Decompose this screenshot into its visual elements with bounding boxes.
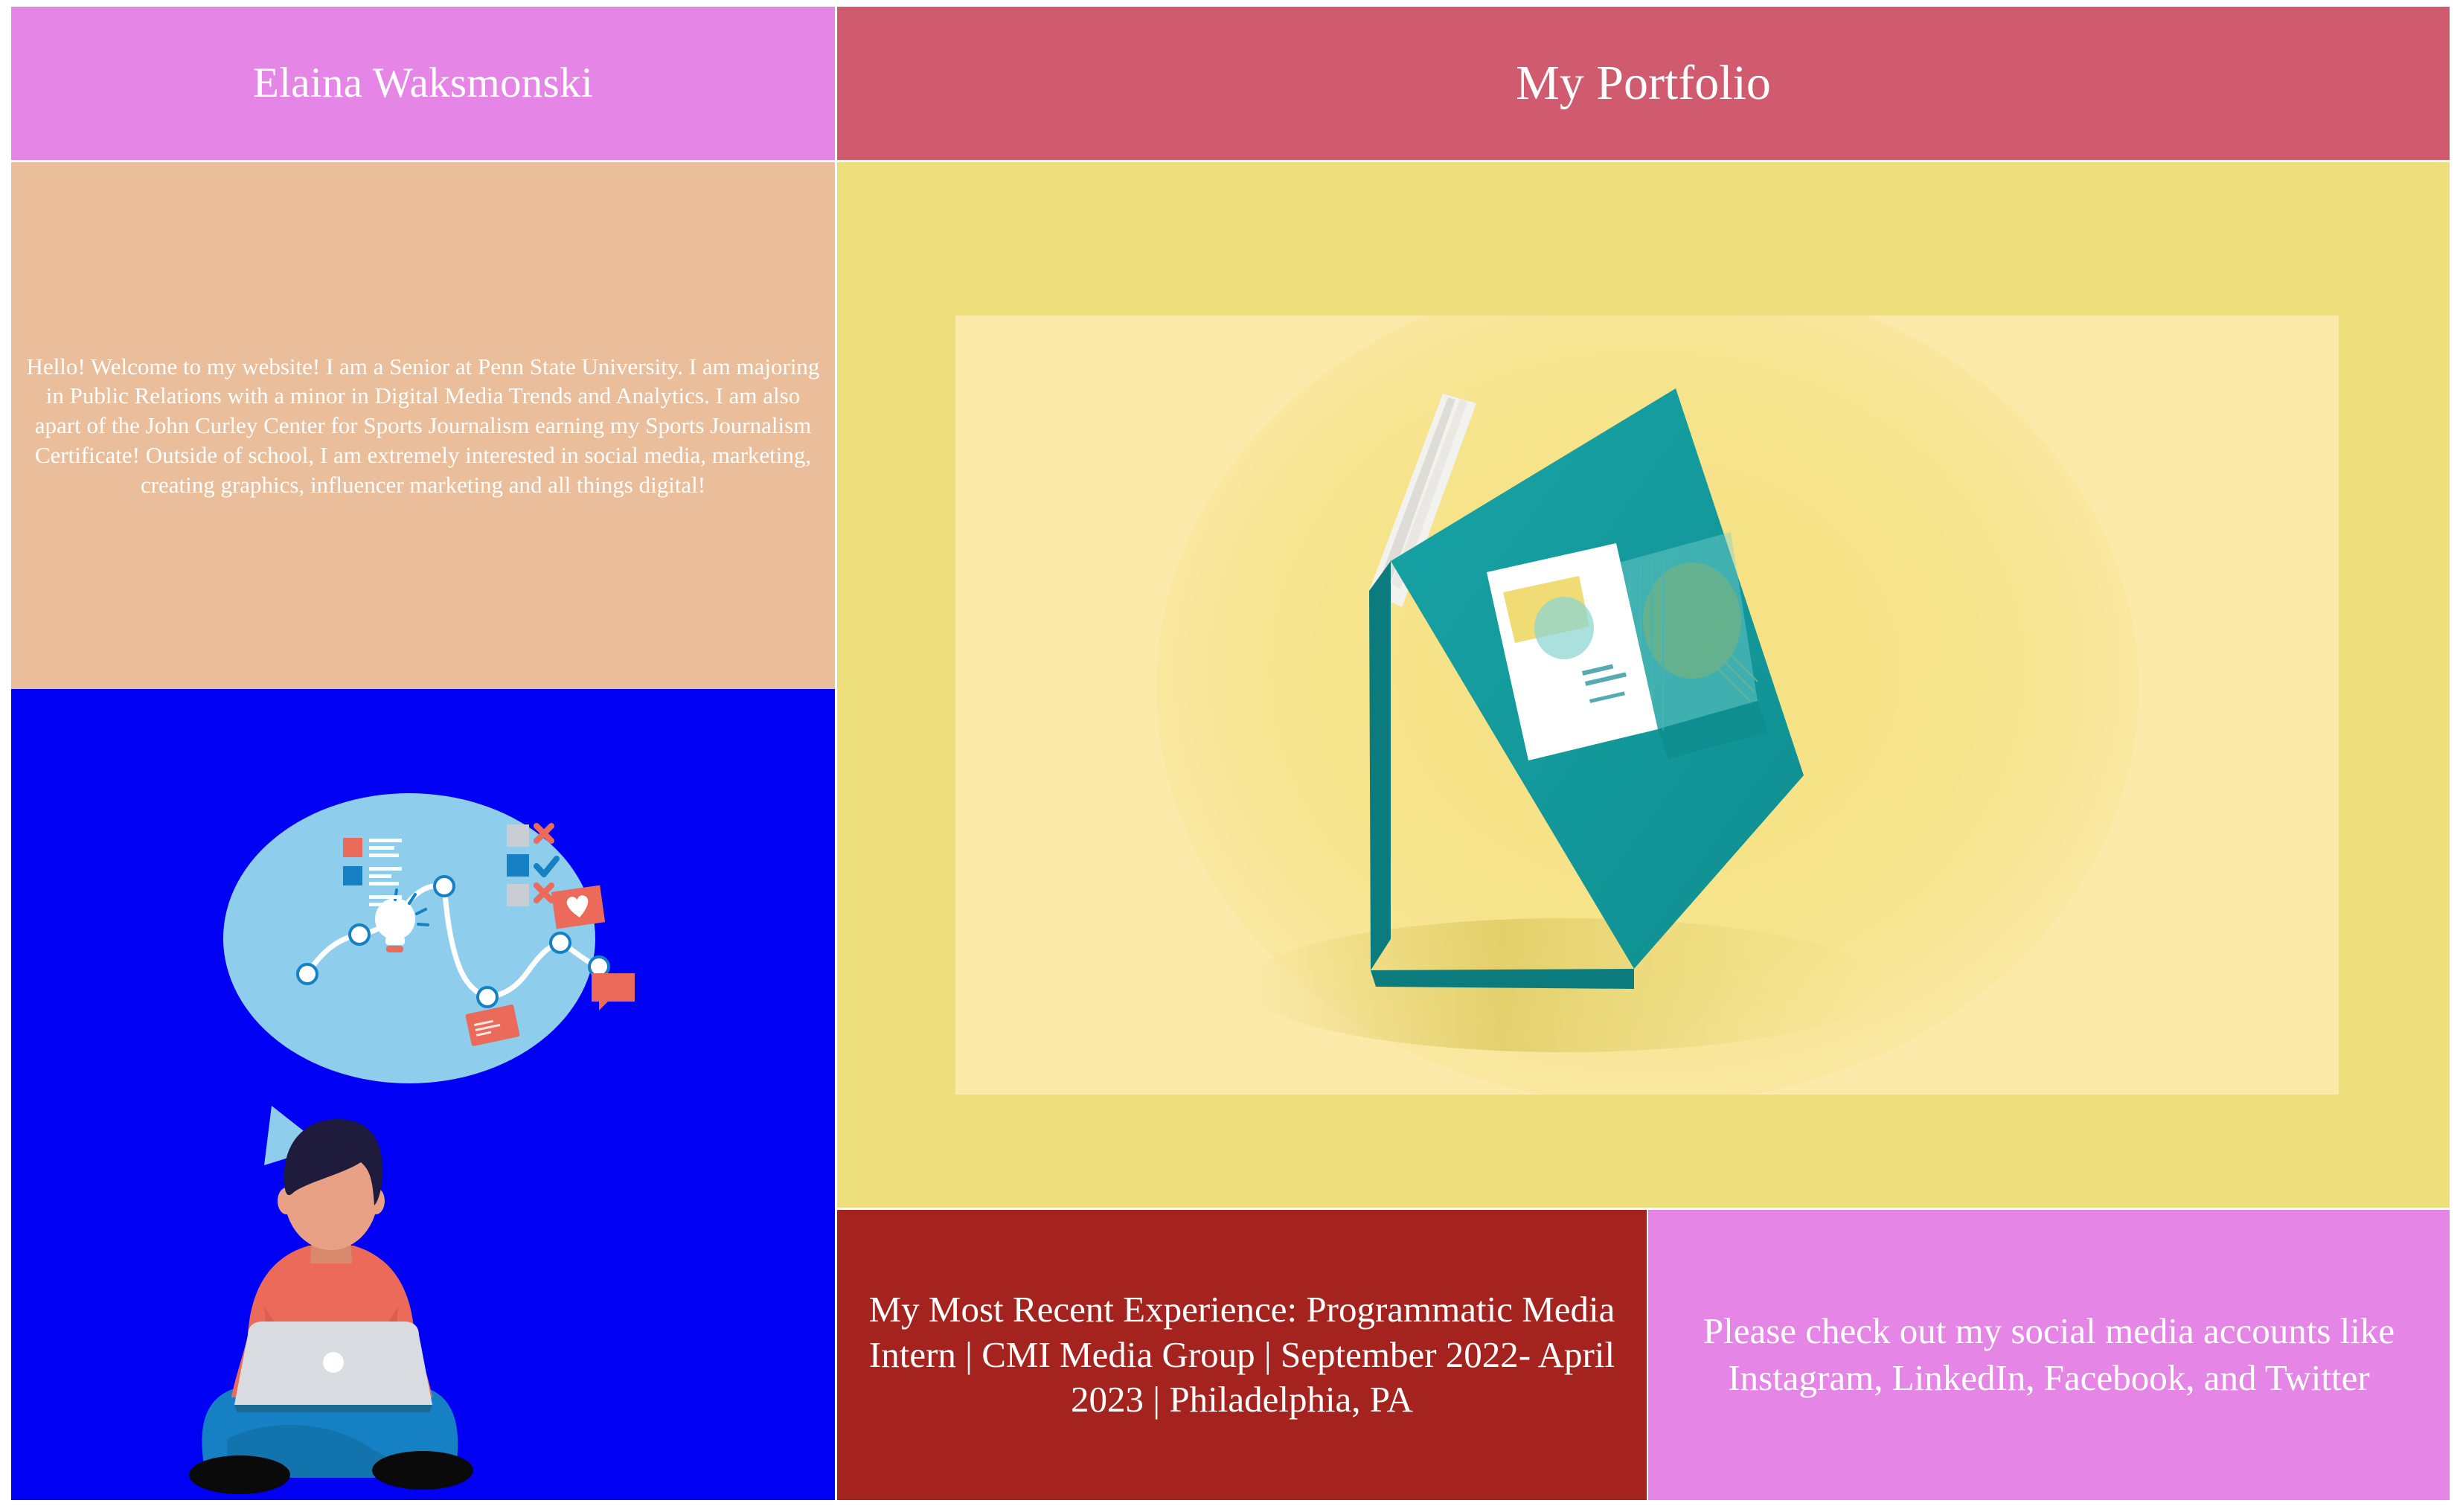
portfolio-image-panel <box>837 162 2450 1208</box>
experience-text: My Most Recent Experience: Programmatic … <box>837 1287 1647 1423</box>
teal-hardcover-book-mockup <box>955 315 2339 1095</box>
illustration-panel <box>11 689 835 1500</box>
social-panel: Please check out my social media account… <box>1648 1210 2450 1500</box>
portfolio-book-image[interactable] <box>955 315 2339 1095</box>
portfolio-page: Elaina Waksmonski My Portfolio Hello! We… <box>11 7 2450 1500</box>
social-text: Please check out my social media account… <box>1648 1308 2450 1401</box>
heart-like-icon <box>551 885 605 929</box>
page-title: My Portfolio <box>837 54 2450 112</box>
person-with-laptop-illustration <box>11 689 835 1500</box>
page-title-name: Elaina Waksmonski <box>11 58 835 108</box>
bio-text: Hello! Welcome to my website! I am a Sen… <box>11 352 835 499</box>
experience-panel: My Most Recent Experience: Programmatic … <box>837 1210 1647 1500</box>
name-header-panel: Elaina Waksmonski <box>11 7 835 160</box>
portfolio-title-panel: My Portfolio <box>837 7 2450 160</box>
bio-panel: Hello! Welcome to my website! I am a Sen… <box>11 162 835 689</box>
